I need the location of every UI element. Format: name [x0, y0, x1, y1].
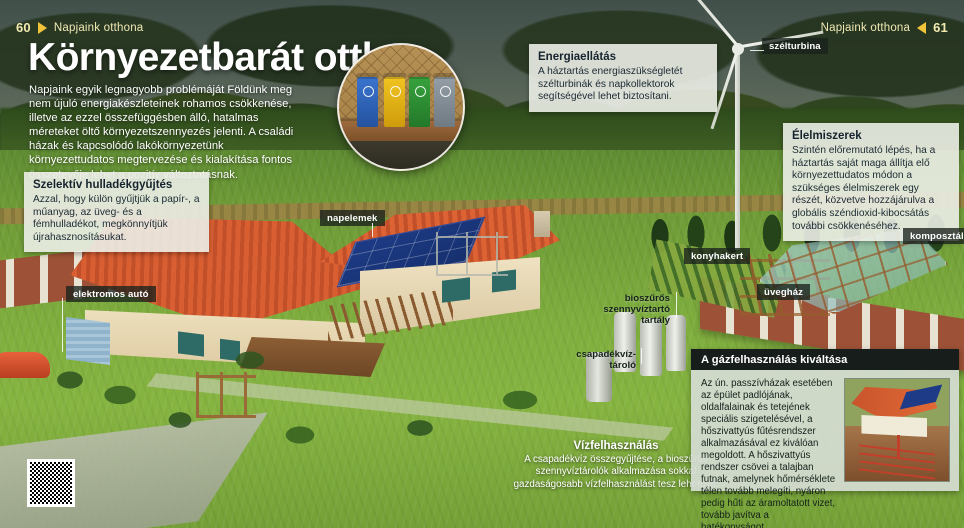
callout-line-1: csapadékvíz- [558, 349, 636, 360]
section-label-left: Napjaink otthona [54, 22, 144, 34]
leader-line [372, 223, 373, 237]
page-number-right: 61 [933, 20, 948, 35]
infobox-title: Szelektív hulladékgyűjtés [33, 179, 200, 191]
leader-line [676, 292, 677, 318]
infobox-title: Energiaellátás [538, 51, 708, 63]
section-label-right: Napjaink otthona [821, 22, 911, 34]
bin-paper [357, 77, 378, 127]
panel-header: A gázfelhasználás kiváltása [691, 349, 959, 370]
bin-lid [433, 73, 456, 79]
callout-line-1: bioszűrős [592, 293, 670, 304]
bin-lid [383, 73, 406, 79]
panel-title: A gázfelhasználás kiváltása [701, 354, 847, 366]
page-number-left: 60 [16, 20, 31, 35]
infobox-szelektiv-hulladekgyujtes: Szelektív hulladékgyűjtés Azzal, hogy kü… [24, 172, 209, 252]
callout-elektromos-auto: elektromos autó [66, 286, 156, 302]
callout-szelturbina: szélturbina [762, 38, 828, 54]
electric-car [0, 352, 50, 378]
infobox-body: A háztartás energiaszükségletét szélturb… [538, 66, 708, 104]
bin-glass [434, 77, 455, 127]
bins-ground [339, 141, 465, 171]
infobox-body: Azzal, hogy külön gyűjtjük a papír-, a m… [33, 194, 200, 244]
callout-komposztalo: komposztáló [903, 228, 964, 244]
bin-metal [384, 77, 405, 127]
callout-line-3: tartály [592, 315, 670, 326]
chimney [534, 211, 550, 237]
leader-line [62, 298, 63, 352]
infobox-energiaellatas: Energiaellátás A háztartás energiaszüksé… [529, 44, 717, 112]
callout-line-2: szennyvíztartó [592, 304, 670, 315]
arrow-left-icon [917, 22, 926, 34]
bin-plastic [409, 77, 430, 127]
turbine-mast [735, 45, 740, 250]
passive-house-diagram [844, 378, 950, 482]
callout-line-2: tároló [558, 360, 636, 371]
garden-frame [436, 232, 508, 276]
page-spread: 60 Napjaink otthona Napjaink otthona 61 … [0, 0, 964, 528]
turbine-hub [732, 43, 744, 55]
panel-text: Az ún. passzívházak esetében az épület p… [701, 378, 836, 528]
infobox-title: Élelmiszerek [792, 130, 950, 142]
diagram-wall [861, 415, 927, 437]
callout-bioszuros-szennyviztartaly: bioszűrős szennyvíztartó tartály [592, 293, 670, 326]
leader-line [641, 348, 642, 364]
panel-gazfelhasznalas-kivaltasa: A gázfelhasználás kiváltása Az ún. passz… [691, 349, 959, 491]
diagram-ground-loop-pipes [859, 442, 935, 479]
qr-code-pattern [30, 462, 72, 504]
header-right[interactable]: Napjaink otthona 61 [821, 20, 948, 35]
callout-napelemek: napelemek [320, 210, 385, 226]
window [442, 277, 470, 302]
qr-code[interactable] [27, 459, 75, 507]
leader-line [750, 50, 764, 51]
callout-konyhakert: konyhakert [684, 248, 750, 264]
panel-body: Az ún. passzívházak esetében az épület p… [691, 370, 959, 528]
recycling-bins-photo [337, 43, 465, 171]
callout-csapadekviz-tarolo: csapadékvíz- tároló [558, 349, 636, 371]
infobox-body: Szintén előremutató lépés, ha a háztartá… [792, 145, 950, 233]
header-left[interactable]: 60 Napjaink otthona [16, 20, 143, 35]
arrow-right-icon [38, 22, 47, 34]
callout-uveghaz: üvegház [757, 284, 810, 300]
bin-lid [356, 73, 379, 79]
lead-paragraph: Napjaink egyik legnagyobb problémáját Fö… [29, 83, 297, 182]
infobox-elelmiszerek: Élelmiszerek Szintén előremutató lépés, … [783, 123, 959, 241]
wastewater-tank [640, 318, 662, 376]
bin-lid [408, 73, 431, 79]
